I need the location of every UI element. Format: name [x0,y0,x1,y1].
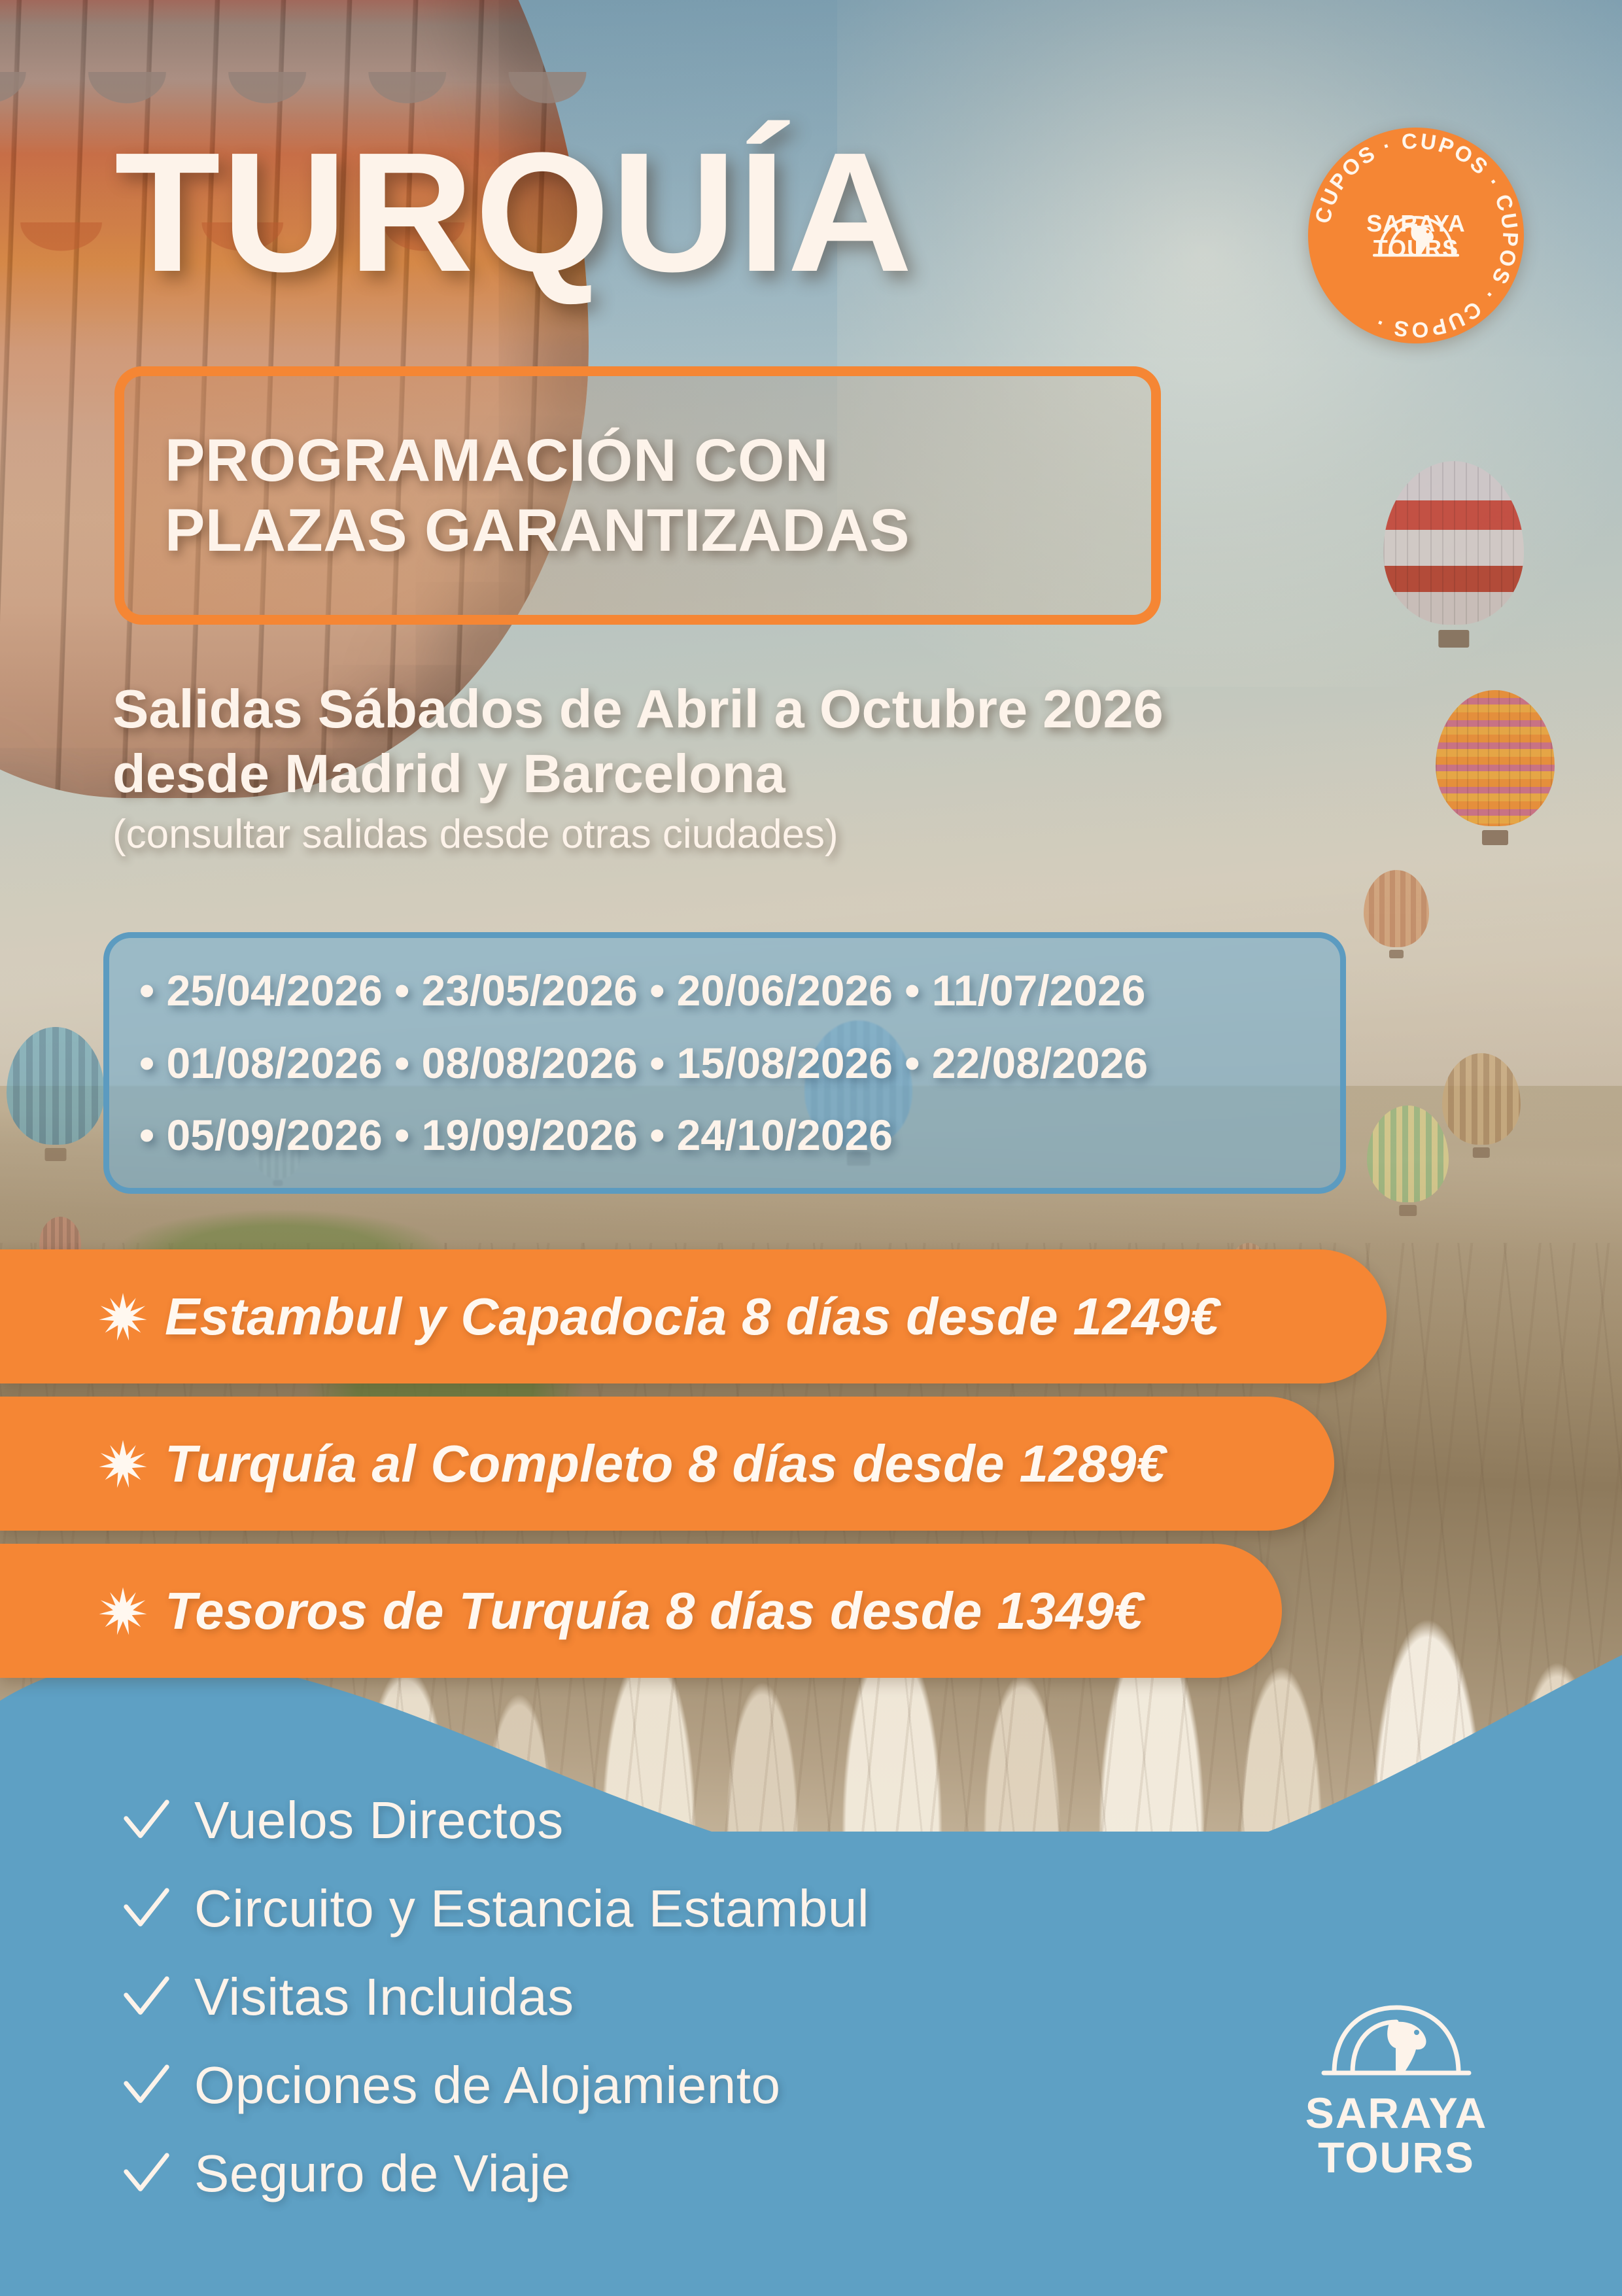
list-item: Circuito y Estancia Estambul [121,1864,869,1953]
starburst-icon [98,1292,148,1342]
saraya-falcon-arch-icon [1321,1998,1472,2082]
footer-brand-line1: SARAYA [1288,2091,1504,2135]
dates-row: • 01/08/2026 • 08/08/2026 • 15/08/2026 •… [139,1027,1310,1100]
list-item: Seguro de Viaje [121,2129,869,2218]
footer-brand-line2: TOURS [1288,2135,1504,2181]
check-icon [121,2148,172,2199]
departures-block: Salidas Sábados de Abril a Octubre 2026 … [112,677,1486,859]
dates-row: • 05/09/2026 • 19/09/2026 • 24/10/2026 [139,1099,1310,1172]
offer-label: Turquía al Completo 8 días desde 1289€ [165,1434,1165,1494]
list-item-label: Circuito y Estancia Estambul [194,1879,869,1939]
list-item-label: Opciones de Alojamiento [194,2055,781,2115]
departure-dates-box: • 25/04/2026 • 23/05/2026 • 20/06/2026 •… [103,932,1346,1194]
list-item-label: Seguro de Viaje [194,2144,570,2204]
badge-brand-lockup: SARAYA TOURS [1354,212,1478,261]
list-item-label: Visitas Incluidas [194,1967,574,2027]
departures-line-1: Salidas Sábados de Abril a Octubre 2026 [112,677,1486,742]
dates-row: • 25/04/2026 • 23/05/2026 • 20/06/2026 •… [139,954,1310,1027]
offer-banner[interactable]: Tesoros de Turquía 8 días desde 1349€ [0,1544,1282,1678]
offer-banner[interactable]: Turquía al Completo 8 días desde 1289€ [0,1397,1334,1531]
headline-line-1: PROGRAMACIÓN CON [165,426,1151,496]
list-item-label: Vuelos Directos [194,1790,564,1851]
list-item: Opciones de Alojamiento [121,2041,869,2129]
footer-brand-lockup: SARAYA TOURS [1288,1998,1504,2181]
starburst-icon [98,1586,148,1636]
offer-label: Tesoros de Turquía 8 días desde 1349€ [165,1581,1143,1641]
cupos-stamp-badge: CUPOS · CUPOS · CUPOS · CUPOS · SARAYA T… [1308,128,1524,343]
offer-label: Estambul y Capadocia 8 días desde 1249€ [165,1287,1219,1347]
includes-checklist: Vuelos Directos Circuito y Estancia Esta… [121,1776,869,2218]
starburst-icon [98,1439,148,1489]
departures-note: (consultar salidas desde otras ciudades) [112,810,1486,859]
check-icon [121,1795,172,1846]
headline-line-2: PLAZAS GARANTIZADAS [165,496,1151,566]
list-item: Visitas Incluidas [121,1953,869,2041]
saraya-falcon-arch-icon [1373,212,1459,260]
offer-banner[interactable]: Estambul y Capadocia 8 días desde 1249€ [0,1249,1387,1383]
check-icon [121,2060,172,2111]
page-title: TURQUÍA [114,128,914,298]
check-icon [121,1883,172,1934]
list-item: Vuelos Directos [121,1776,869,1864]
headline-box: PROGRAMACIÓN CON PLAZAS GARANTIZADAS [114,366,1161,625]
departures-line-2: desde Madrid y Barcelona [112,742,1486,807]
check-icon [121,1972,172,2023]
